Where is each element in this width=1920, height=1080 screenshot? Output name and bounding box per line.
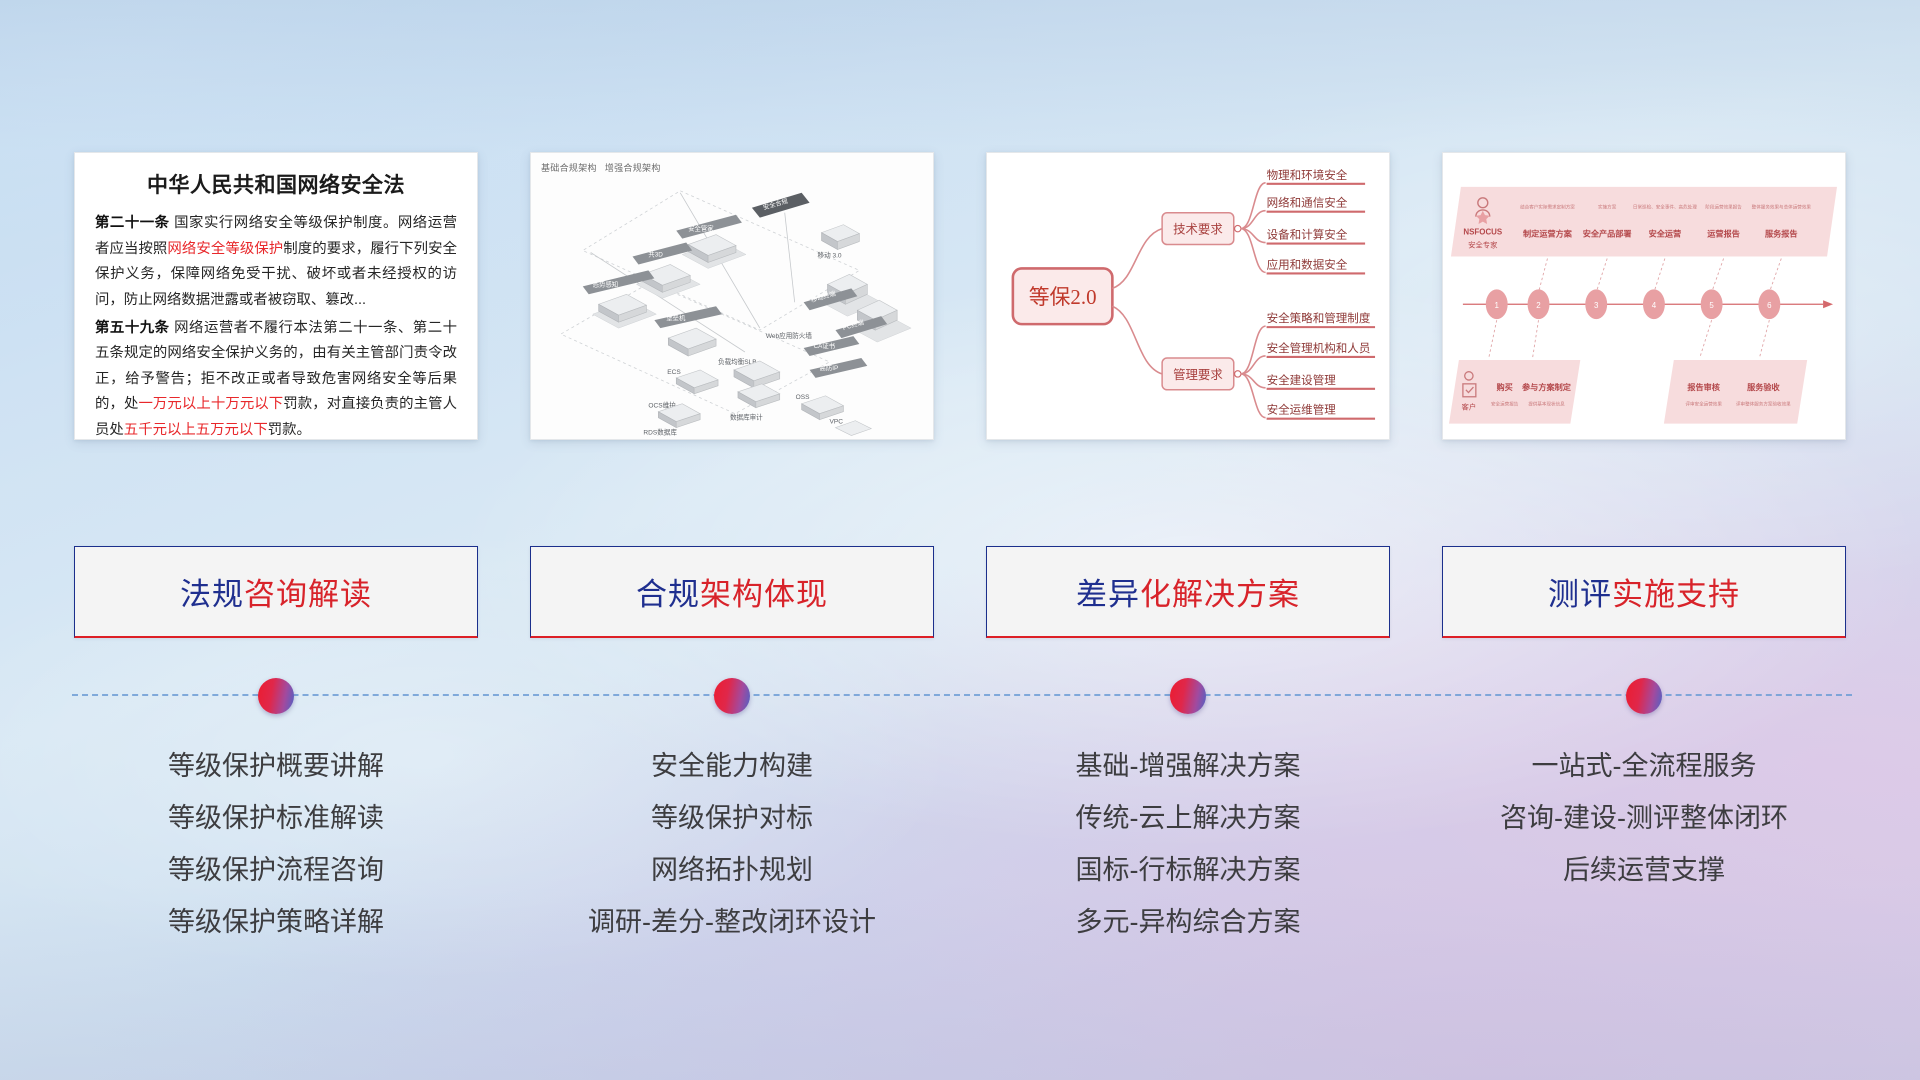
detail-item: 等级保护流程咨询 <box>168 844 384 896</box>
svg-text:数据库审计: 数据库审计 <box>730 413 763 422</box>
flow-top-step-4-title: 服务报告 <box>1765 229 1798 239</box>
detail-item: 等级保护对标 <box>651 792 813 844</box>
detail-item: 基础-增强解决方案 <box>1076 740 1301 792</box>
feature-detail-column-0: 等级保护概要讲解 等级保护标准解读 等级保护流程咨询 等级保护策略详解 <box>74 740 478 948</box>
feature-button-differentiated-solution[interactable]: 差异化解决方案 <box>986 546 1390 638</box>
law-article-21: 第二十一条 国家实行网络安全等级保护制度。网络运营者应当按照网络安全等级保护制度… <box>95 211 457 314</box>
timeline-dot-0[interactable] <box>258 678 294 714</box>
card-service-flow: NSFOCUS 安全专家 结合客户实际需求定制方案 制定运营方案 实施方案 安全… <box>1442 152 1846 440</box>
card-mindmap: 等保2.0 技术要求 物理和环境安全 网络和通信安全 设备和计算安全 应用和数据… <box>986 152 1390 440</box>
detail-item: 等级保护概要讲解 <box>168 740 384 792</box>
svg-text:移动 3.0: 移动 3.0 <box>818 250 842 259</box>
slide-stage: 中华人民共和国网络安全法 第二十一条 国家实行网络安全等级保护制度。网络运营者应… <box>0 0 1920 1080</box>
svg-text:Web应用防火墙: Web应用防火墙 <box>766 331 813 340</box>
law-title: 中华人民共和国网络安全法 <box>95 169 457 199</box>
mindmap-branch-1-leaf-3: 安全运维管理 <box>1267 403 1337 417</box>
law-article-21-label: 第二十一条 <box>95 215 170 231</box>
architecture-tabs: 基础合规架构 增强合规架构 <box>541 161 661 174</box>
detail-item: 等级保护策略详解 <box>168 896 384 948</box>
mindmap-branch-0-label: 技术要求 <box>1173 223 1223 237</box>
feature-label-0-blue: 法规 <box>180 577 244 612</box>
mindmap-branch-1-leaf-2: 安全建设管理 <box>1267 373 1337 387</box>
flow-bottom-right-step-0-sub: 评审安全运营效果 <box>1685 401 1722 408</box>
flow-number-1: 2 <box>1536 301 1541 310</box>
flow-top-step-1-title: 安全产品部署 <box>1583 229 1632 239</box>
illustration-card-row: 中华人民共和国网络安全法 第二十一条 国家实行网络安全等级保护制度。网络运营者应… <box>74 152 1849 440</box>
card-cybersecurity-law: 中华人民共和国网络安全法 第二十一条 国家实行网络安全等级保护制度。网络运营者应… <box>74 152 478 440</box>
flow-bottom-left-step-1-sub: 提供基本现状信息 <box>1528 401 1565 408</box>
detail-item: 安全能力构建 <box>651 740 813 792</box>
flow-top-step-0-title: 制定运营方案 <box>1523 229 1573 239</box>
flow-number-4: 5 <box>1709 301 1714 310</box>
arch-node-core: 安全合规 <box>752 193 810 218</box>
mindmap-branch-0-leaf-0: 物理和环境安全 <box>1267 168 1348 182</box>
feature-label-1-blue: 合规 <box>636 577 700 612</box>
law-article-59-highlight-2: 五千元以上五万元以下 <box>124 422 268 438</box>
flow-number-5: 6 <box>1767 301 1772 310</box>
architecture-diagram: 安全合规 安全管家 共3D <box>531 153 933 440</box>
detail-item: 咨询-建设-测评整体闭环 <box>1500 792 1788 844</box>
feature-label-2-blue: 差异 <box>1076 577 1140 612</box>
arch-node-group-left2: 共3D <box>632 243 700 299</box>
architecture-tab-enhanced: 增强合规架构 <box>605 161 661 174</box>
card-compliance-architecture: 基础合规架构 增强合规架构 安全合规 <box>530 152 934 440</box>
flow-number-0: 1 <box>1495 301 1500 310</box>
feature-button-compliance-architecture[interactable]: 合规架构体现 <box>530 546 934 638</box>
mindmap-root-label: 等保2.0 <box>1029 285 1097 309</box>
flow-number-2: 3 <box>1594 301 1599 310</box>
svg-text:ECS: ECS <box>667 369 681 376</box>
mindmap-branch-0-leaf-2: 设备和计算安全 <box>1267 228 1348 242</box>
svg-text:堡垒机: 堡垒机 <box>666 313 686 322</box>
detail-item: 后续运营支撑 <box>1563 844 1725 896</box>
feature-button-evaluation-support[interactable]: 测评实施支持 <box>1442 546 1846 638</box>
arch-node-group-left: 安全管家 <box>676 215 746 269</box>
mindmap-branch-1-label: 管理要求 <box>1173 367 1223 382</box>
mindmap-branch-0-leaf-3: 应用和数据安全 <box>1267 257 1348 271</box>
flow-top-step-2-sub: 日常巡检、安全事件、高危处理 <box>1633 204 1697 211</box>
feature-button-label-0: 法规咨询解读 <box>180 569 372 614</box>
detail-item: 传统-云上解决方案 <box>1076 792 1301 844</box>
svg-text:安全管家: 安全管家 <box>688 224 714 233</box>
arch-node-group-left3: 态势感知 <box>583 270 657 328</box>
flow-bottom-right-step-1-sub: 评审整体服务方案验收效果 <box>1736 401 1791 408</box>
law-article-59: 第五十九条 网络运营者不履行本法第二十一条、第二十五条规定的网络安全保护义务的，… <box>95 316 457 440</box>
timeline-dot-3[interactable] <box>1626 678 1662 714</box>
svg-text:高防IP: 高防IP <box>820 363 839 372</box>
feature-detail-column-1: 安全能力构建 等级保护对标 网络拓扑规划 调研-差分-整改闭环设计 <box>530 740 934 948</box>
feature-detail-column-2: 基础-增强解决方案 传统-云上解决方案 国标-行标解决方案 多元-异构综合方案 <box>986 740 1390 948</box>
architecture-tab-basic: 基础合规架构 <box>541 161 597 174</box>
detail-item: 多元-异构综合方案 <box>1076 896 1301 948</box>
detail-item: 国标-行标解决方案 <box>1076 844 1301 896</box>
flow-brand-line2: 安全专家 <box>1468 241 1498 250</box>
flow-top-step-1-sub: 实施方案 <box>1598 204 1617 211</box>
detail-item: 调研-差分-整改闭环设计 <box>588 896 876 948</box>
law-article-21-highlight: 网络安全等级保护 <box>167 241 283 257</box>
timeline-dot-2[interactable] <box>1170 678 1206 714</box>
flow-bottom-right-step-1-title: 服务验收 <box>1747 382 1780 392</box>
mindmap-diagram: 等保2.0 技术要求 物理和环境安全 网络和通信安全 设备和计算安全 应用和数据… <box>987 153 1389 440</box>
law-article-59-text-c: 罚款。 <box>268 422 311 438</box>
flow-customer-label: 客户 <box>1462 403 1477 412</box>
feature-label-0-red: 咨询解读 <box>244 577 372 612</box>
flow-bottom-right-step-0-title: 报告审核 <box>1687 382 1720 392</box>
flow-bottom-left-step-1-title: 参与方案制定 <box>1522 382 1572 392</box>
svg-text:CA证书: CA证书 <box>814 341 836 350</box>
svg-text:VPC: VPC <box>829 419 843 426</box>
flow-top-step-2-title: 安全运营 <box>1649 229 1682 239</box>
svg-text:RDS数据库: RDS数据库 <box>643 428 677 437</box>
feature-button-regulation-consulting[interactable]: 法规咨询解读 <box>74 546 478 638</box>
law-article-59-highlight-1: 一万元以上十万元以下 <box>138 396 283 412</box>
feature-label-2-red: 化解决方案 <box>1140 577 1300 612</box>
svg-text:OSS: OSS <box>796 394 810 401</box>
flow-top-step-0-sub: 结合客户实际需求定制方案 <box>1520 204 1575 211</box>
feature-button-label-1: 合规架构体现 <box>636 569 828 614</box>
flow-top-step-3-sub: 阶段运营效果报告 <box>1705 204 1742 211</box>
law-article-59-label: 第五十九条 <box>95 320 170 336</box>
detail-item: 网络拓扑规划 <box>651 844 813 896</box>
flow-number-3: 4 <box>1652 301 1657 310</box>
mindmap-branch-0-leaf-1: 网络和通信安全 <box>1267 196 1348 210</box>
feature-detail-row: 等级保护概要讲解 等级保护标准解读 等级保护流程咨询 等级保护策略详解 安全能力… <box>74 740 1849 948</box>
feature-label-1-red: 架构体现 <box>700 577 828 612</box>
timeline-dot-1[interactable] <box>714 678 750 714</box>
flow-brand-line1: NSFOCUS <box>1463 228 1502 237</box>
flow-top-step-4-sub: 整体服务效果与总体运营效果 <box>1752 204 1812 211</box>
detail-item: 一站式-全流程服务 <box>1532 740 1757 792</box>
feature-button-label-2: 差异化解决方案 <box>1076 569 1300 614</box>
svg-text:共3D: 共3D <box>648 249 663 258</box>
feature-button-label-3: 测评实施支持 <box>1548 569 1740 614</box>
mindmap-branch-1-leaf-1: 安全管理机构和人员 <box>1267 341 1371 355</box>
flow-bottom-left-step-0-sub: 安全运营报告 <box>1491 401 1519 408</box>
feature-button-row: 法规咨询解读 合规架构体现 差异化解决方案 测评实施支持 <box>74 546 1849 638</box>
svg-text:态势感知: 态势感知 <box>593 279 618 288</box>
mindmap-branch-1-leaf-0: 安全策略和管理制度 <box>1267 311 1371 325</box>
timeline-dashed-line <box>72 694 1852 698</box>
feature-label-3-red: 实施支持 <box>1612 577 1740 612</box>
flow-bottom-left-step-0-title: 购买 <box>1496 382 1513 392</box>
feature-label-3-blue: 测评 <box>1548 577 1612 612</box>
flow-top-step-3-title: 运营报告 <box>1707 229 1740 239</box>
detail-item: 等级保护标准解读 <box>168 792 384 844</box>
feature-detail-column-3: 一站式-全流程服务 咨询-建设-测评整体闭环 后续运营支撑 <box>1442 740 1846 948</box>
service-flow-diagram: NSFOCUS 安全专家 结合客户实际需求定制方案 制定运营方案 实施方案 安全… <box>1443 153 1845 440</box>
